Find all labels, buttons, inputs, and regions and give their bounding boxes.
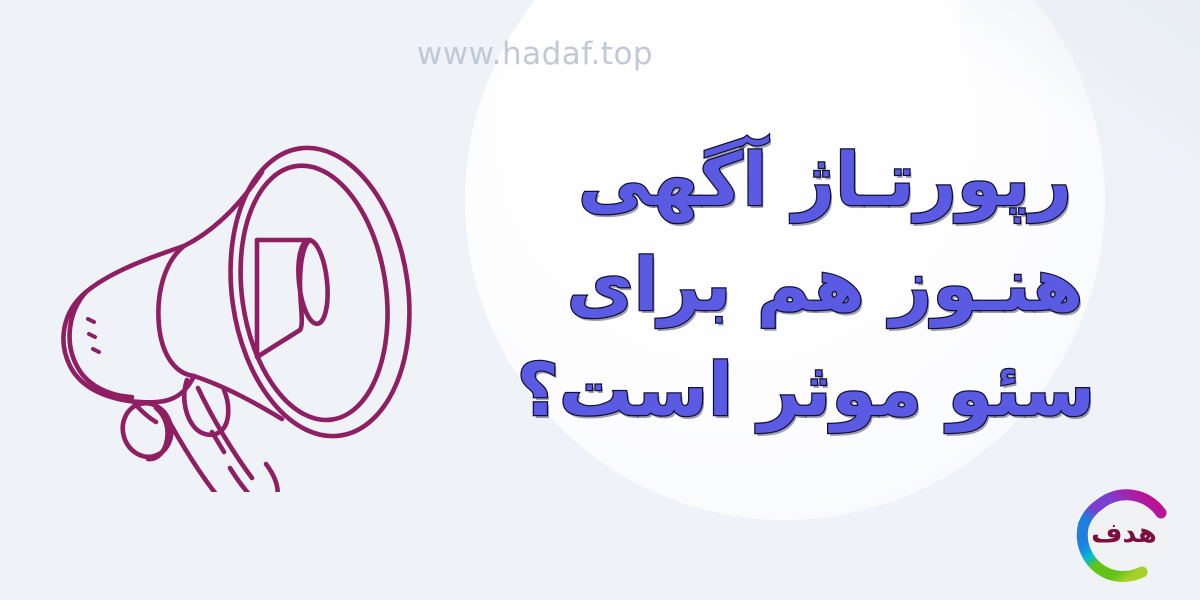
headline-line-1: رپورتـاژ آگهی <box>555 128 1095 233</box>
megaphone-barrel-outer <box>63 246 194 402</box>
headline-line-3: سئو موثر است؟ <box>555 338 1095 443</box>
megaphone-driver <box>257 239 331 357</box>
banner-canvas: www.hadaf.top رپورتـاژ آگهی هنـوز هم برا… <box>0 0 1200 600</box>
megaphone-barrel-seam <box>158 246 194 376</box>
site-url-watermark: www.hadaf.top <box>0 36 1200 72</box>
headline-line-2: هنـوز هم برای <box>555 233 1095 338</box>
megaphone-illustration <box>52 112 452 492</box>
hadaf-logo[interactable]: هدف <box>1070 480 1178 588</box>
megaphone-handle <box>164 388 278 492</box>
logo-wordmark: هدف <box>1070 518 1178 549</box>
megaphone-bell <box>213 136 428 448</box>
headline-block: رپورتـاژ آگهی هنـوز هم برای سئو موثر است… <box>555 128 1095 443</box>
megaphone-trigger-knob <box>116 397 177 462</box>
megaphone-vent-dashes <box>88 319 99 352</box>
